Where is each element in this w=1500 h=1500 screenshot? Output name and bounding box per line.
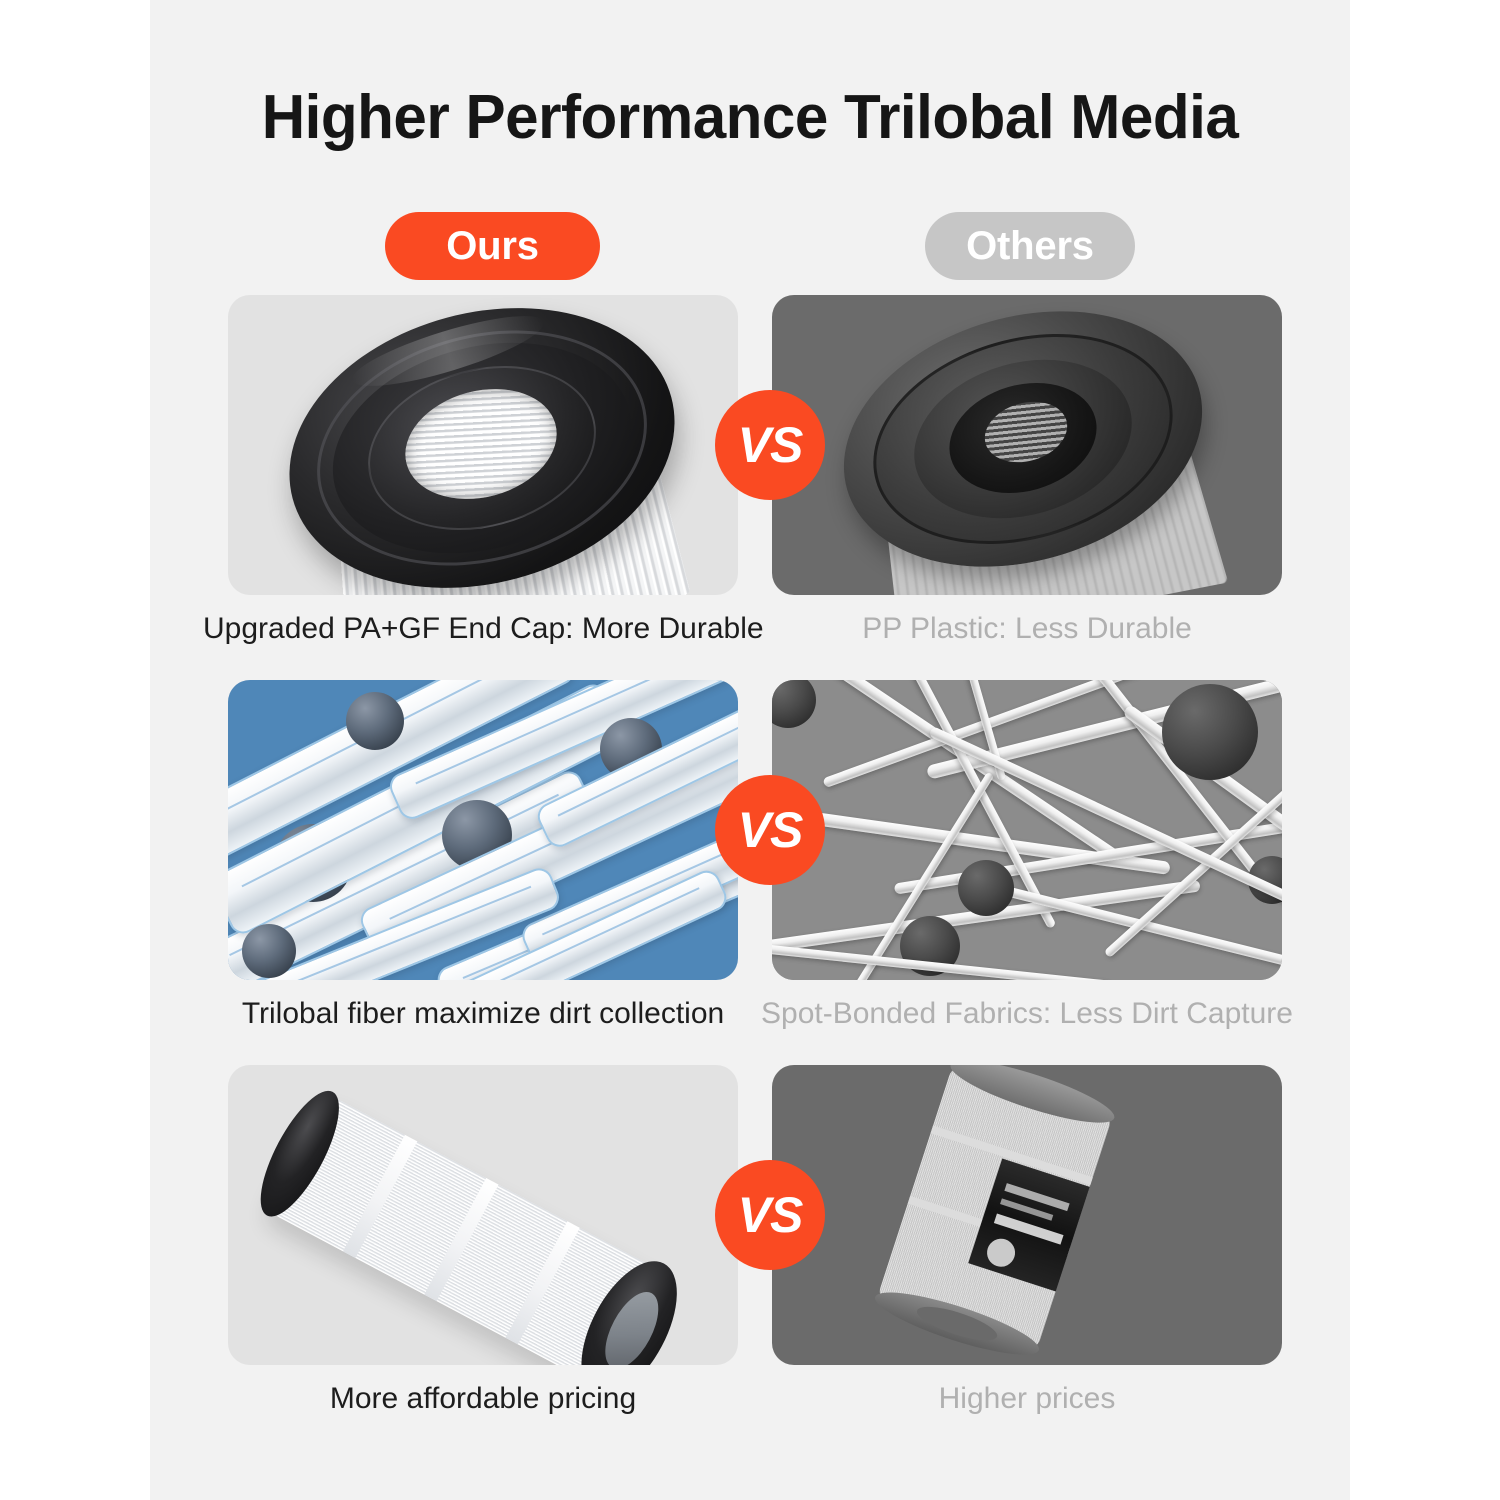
caption-others-2: Spot-Bonded Fabrics: Less Dirt Capture (747, 992, 1307, 1036)
competitor-cartridge-image (772, 1065, 1282, 1365)
content-canvas: Higher Performance Trilobal Media Ours O… (150, 0, 1350, 1500)
vs-badge-3: VS (715, 1160, 825, 1270)
image-panel-ours-2 (228, 680, 738, 980)
image-panel-ours-3 (228, 1065, 738, 1365)
infographic-page: Higher Performance Trilobal Media Ours O… (0, 0, 1500, 1500)
badge-others: Others (925, 212, 1135, 280)
pool-filter-end-cap-image (228, 295, 738, 595)
image-panel-others-1 (772, 295, 1282, 595)
caption-others-3: Higher prices (747, 1377, 1307, 1421)
image-panel-ours-1 (228, 295, 738, 595)
vs-badge-1: VS (715, 390, 825, 500)
comparison-row-1: VS Upgraded PA+GF End Cap: More Durable … (150, 295, 1350, 680)
image-panel-others-3 (772, 1065, 1282, 1365)
comparison-row-2: VS Trilobal fiber maximize dirt collecti… (150, 680, 1350, 1065)
image-panel-others-2 (772, 680, 1282, 980)
caption-others-1: PP Plastic: Less Durable (747, 607, 1307, 651)
badge-row: Ours Others (150, 212, 1350, 280)
caption-ours-2: Trilobal fiber maximize dirt collection (203, 992, 763, 1036)
badge-ours: Ours (385, 212, 600, 280)
comparison-row-3: VS More affordable pricing Higher prices (150, 1065, 1350, 1450)
full-filter-cartridge-image (228, 1065, 738, 1365)
caption-ours-1: Upgraded PA+GF End Cap: More Durable (203, 607, 763, 651)
caption-ours-3: More affordable pricing (203, 1377, 763, 1421)
round-fiber-mesh-image (772, 680, 1282, 980)
page-title: Higher Performance Trilobal Media (168, 82, 1332, 153)
vs-badge-2: VS (715, 775, 825, 885)
pp-plastic-end-cap-image (772, 295, 1282, 595)
comparison-grid: VS Upgraded PA+GF End Cap: More Durable … (150, 295, 1350, 1450)
trilobal-fiber-image (228, 680, 738, 980)
